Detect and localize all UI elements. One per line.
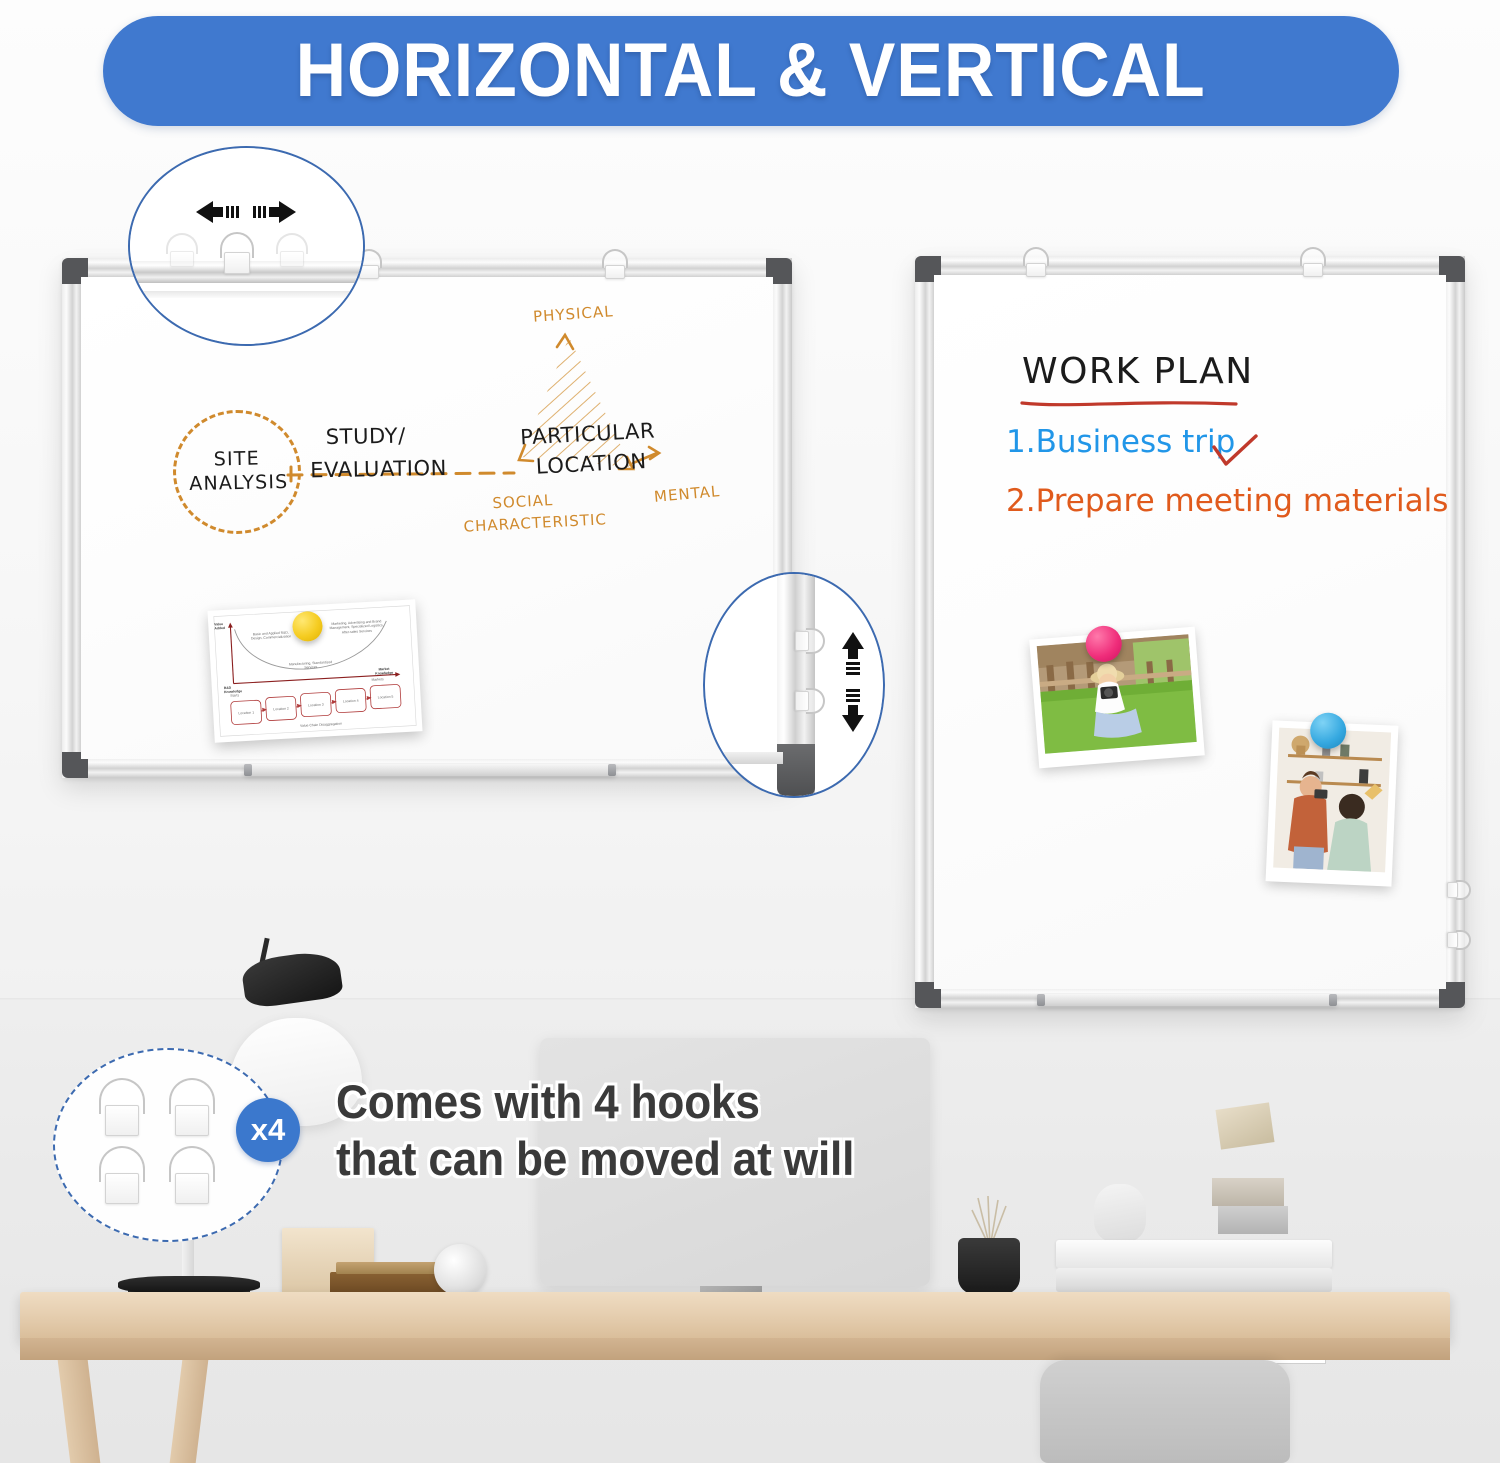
desk-plant-pot: [958, 1238, 1020, 1294]
horizontal-whiteboard[interactable]: SITE ANALYSIS STUDY/ EVALUATION: [62, 258, 792, 778]
vertical-arrows-icon: [838, 632, 868, 732]
included-hook-1: [99, 1078, 145, 1136]
work-plan-title: WORK PLAN: [1022, 351, 1254, 392]
desk-box-2: [1218, 1206, 1288, 1234]
desk-stack-1: [1056, 1240, 1332, 1268]
card-y-axis-label: Value Added: [214, 622, 232, 631]
magnified-bottom-rail: [705, 752, 783, 764]
magnified-hook-left: [166, 233, 198, 267]
desk-clock: [434, 1244, 486, 1296]
desk-box-3: [1215, 1102, 1274, 1149]
card-chain-end-label: Markets: [371, 677, 383, 682]
left-rail-vertical: [915, 256, 935, 1008]
work-plan-item-1: 1.Business trip: [1006, 424, 1235, 460]
quantity-badge-x4: x4: [236, 1098, 300, 1162]
pen-tray-vertical: [1037, 994, 1337, 1006]
desk-sphere: [1094, 1184, 1146, 1242]
caption-line-1: Comes with 4 hooks: [336, 1073, 1050, 1130]
included-hook-3: [99, 1146, 145, 1204]
top-rail-vertical: [915, 256, 1465, 276]
horizontal-hook-callout: [128, 146, 365, 346]
checkmark-icon: [1210, 433, 1262, 473]
board-writing-surface-vertical[interactable]: WORK PLAN 1.Business trip 2.Prepare meet…: [934, 275, 1446, 989]
magnified-hook-lower: [795, 688, 825, 714]
feature-caption: Comes with 4 hooks that can be moved at …: [336, 1073, 1050, 1188]
desk-edge: [20, 1338, 1450, 1360]
hook-top-vertical-2[interactable]: [1300, 247, 1326, 277]
hook-side-vertical-1[interactable]: [1447, 880, 1471, 900]
study-evaluation-label: STUDY/ EVALUATION: [325, 419, 447, 486]
photo-woman-with-camera[interactable]: [1029, 627, 1205, 769]
desk-stack-2: [1056, 1268, 1332, 1292]
social-characteristic-tag: SOCIAL CHARACTERISTIC: [462, 487, 607, 538]
headline-banner: HORIZONTAL & VERTICAL: [103, 16, 1399, 126]
magnified-rail-edge: [130, 291, 363, 298]
vertical-whiteboard[interactable]: WORK PLAN 1.Business trip 2.Prepare meet…: [915, 256, 1465, 1008]
photo-couple-kitchen[interactable]: [1266, 720, 1399, 886]
work-plan-underline: [1020, 397, 1240, 411]
card-axis-right-label: Market Knowledge: [369, 666, 399, 676]
caption-line-2: that can be moved at will: [336, 1130, 1050, 1187]
vertical-hook-callout: [703, 572, 885, 798]
headline-text: HORIZONTAL & VERTICAL: [296, 33, 1206, 109]
horizontal-arrows-icon: [196, 198, 296, 226]
value-chain-smile-curve-card[interactable]: Value Added Basic and Applied R&D, Desig…: [207, 599, 422, 742]
hook-top-vertical-1[interactable]: [1023, 247, 1049, 277]
desk-box-1: [1212, 1178, 1284, 1206]
photo-image-2: [1273, 728, 1391, 873]
magnified-hook-right: [276, 233, 308, 267]
desk-surface: [20, 1292, 1450, 1340]
particular-location-label: PARTICULAR LOCATION: [519, 416, 657, 484]
included-hook-2: [169, 1078, 215, 1136]
card-chain-start-label: Starts: [230, 693, 239, 698]
left-rail: [62, 258, 82, 778]
desk-books-2: [336, 1262, 444, 1274]
hook-side-vertical-2[interactable]: [1447, 930, 1471, 950]
product-marketing-image: HORIZONTAL & VERTICAL SITE ANALYSIS: [0, 0, 1500, 1463]
site-analysis-label: SITE ANALYSIS: [189, 446, 286, 497]
office-chair: [1040, 1360, 1290, 1463]
included-hook-4: [169, 1146, 215, 1204]
magnified-hook-center: [220, 232, 254, 274]
hook-top-4[interactable]: [602, 249, 628, 279]
pen-tray: [244, 764, 616, 776]
board-writing-surface[interactable]: SITE ANALYSIS STUDY/ EVALUATION: [81, 277, 773, 759]
work-plan-item-2: 2.Prepare meeting materials: [1006, 483, 1448, 519]
magnified-hook-upper: [795, 628, 825, 654]
